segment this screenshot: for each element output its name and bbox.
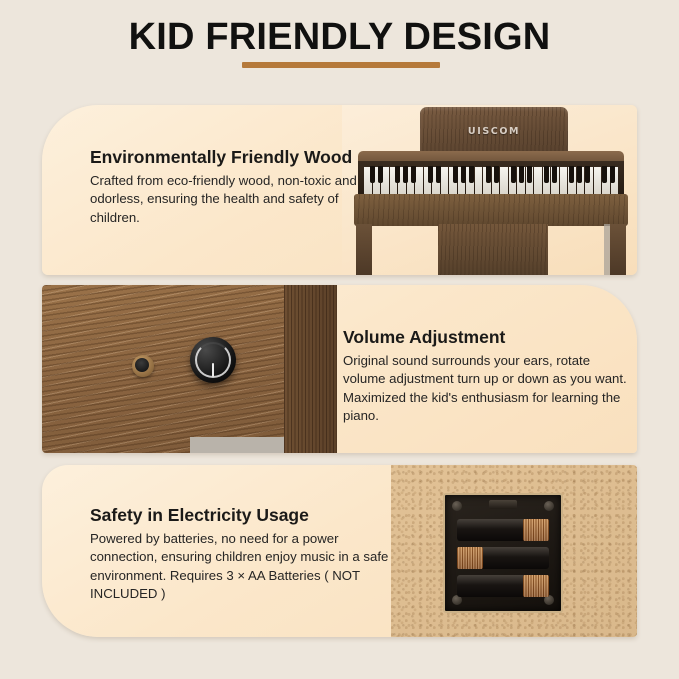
piano-pedal-box	[438, 224, 548, 275]
floor-strip	[190, 437, 284, 453]
volume-knob	[190, 337, 236, 383]
feature-panel-volume: Volume Adjustment Original sound surroun…	[42, 285, 637, 453]
feature-heading: Volume Adjustment	[343, 327, 505, 348]
page-title: KID FRIENDLY DESIGN	[0, 16, 679, 59]
tray-latch	[489, 500, 517, 509]
screw-icon	[544, 501, 554, 511]
feature-panel-eco-wood: UISCOM	[42, 105, 637, 275]
battery-tray	[443, 493, 563, 613]
feature-body: Original sound surrounds your ears, rota…	[343, 352, 631, 425]
piano-leg-right	[610, 224, 626, 275]
wood-side-panel	[284, 285, 337, 453]
feature-heading: Safety in Electricity Usage	[90, 505, 309, 526]
knob-indicator-line	[212, 363, 214, 377]
screw-icon	[452, 501, 462, 511]
piano-case	[354, 194, 628, 226]
black-keys	[364, 166, 618, 183]
feature-panel-battery-safety: Safety in Electricity Usage Powered by b…	[42, 465, 637, 637]
battery-terminal	[523, 519, 549, 541]
piano-keybed	[358, 161, 624, 197]
piano-leg-left	[356, 224, 372, 275]
feature-heading: Environmentally Friendly Wood	[90, 147, 352, 168]
volume-knob-photo	[42, 285, 337, 453]
product-feature-infographic: KID FRIENDLY DESIGN UISCOM	[0, 0, 679, 679]
feature-body: Crafted from eco-friendly wood, non-toxi…	[90, 172, 360, 227]
battery-terminal	[457, 547, 483, 569]
aa-battery	[457, 547, 549, 569]
screw-detail	[132, 355, 154, 377]
battery-compartment-photo	[391, 465, 637, 637]
wood-grain-surface	[42, 285, 284, 453]
title-underline-accent	[242, 62, 440, 68]
battery-terminal	[523, 575, 549, 597]
brand-logo: UISCOM	[420, 126, 568, 137]
feature-body: Powered by batteries, no need for a powe…	[90, 530, 400, 603]
aa-battery	[457, 519, 549, 541]
aa-battery	[457, 575, 549, 597]
toy-piano-photo: UISCOM	[342, 105, 637, 275]
